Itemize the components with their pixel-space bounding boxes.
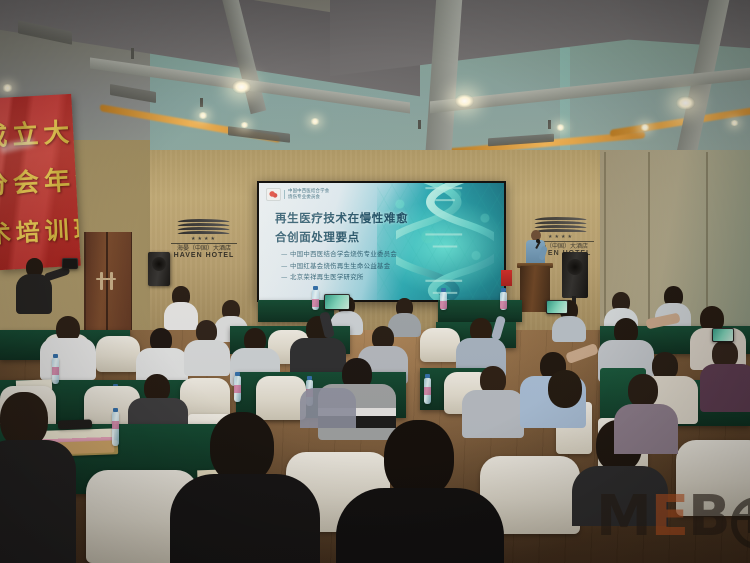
event-banner: 成立大会 分会年会 术培训班 xyxy=(0,94,81,270)
downlight-6 xyxy=(240,122,249,128)
wall-seam-3 xyxy=(604,152,606,337)
red-sign-placard xyxy=(501,270,512,286)
door-split xyxy=(106,232,108,340)
smartphone-recording[interactable] xyxy=(546,300,568,314)
smartphone-recording[interactable] xyxy=(324,294,350,310)
downlight-16 xyxy=(730,120,739,126)
chair[interactable] xyxy=(96,336,140,372)
ceiling-hook-4 xyxy=(548,120,551,129)
meeting-room-door[interactable] xyxy=(84,232,132,340)
haven-wave-icon-2 xyxy=(535,216,587,232)
water-bottle[interactable] xyxy=(424,378,431,404)
ceiling-spotlight-2 xyxy=(455,94,474,108)
speaker-driver-icon-2 xyxy=(567,259,583,275)
water-bottle[interactable] xyxy=(500,292,507,310)
speaker-driver-icon xyxy=(152,257,166,271)
downlight-7 xyxy=(310,118,320,125)
screen-sheen xyxy=(259,183,504,300)
attendee-torso xyxy=(300,388,356,428)
eyeglasses[interactable] xyxy=(58,419,92,429)
door-handle-left[interactable] xyxy=(100,272,103,290)
attendee-head xyxy=(628,374,658,408)
mebo-watermark: M E B xyxy=(596,489,750,545)
downlight-1 xyxy=(2,84,13,92)
slide-content: 中国中西医结合学会 烧伤专业委员会 再生医疗技术在慢性难愈 合创面处理要点 中国… xyxy=(259,183,504,300)
water-bottle[interactable] xyxy=(112,412,119,446)
ceiling-hook-1 xyxy=(131,48,134,59)
wall-seam-1 xyxy=(648,152,650,337)
hotel-sign-left: ★★★★ 海晏（中国）大酒店 HAVEN HOTEL xyxy=(165,218,243,260)
downlight-4 xyxy=(198,112,208,119)
hotel-name-cn: 海晏（中国）大酒店 xyxy=(165,245,243,252)
attendee-torso-foreground xyxy=(0,440,76,563)
attendee-torso xyxy=(462,390,524,438)
downlight-12 xyxy=(556,124,565,131)
pa-speaker-stage xyxy=(562,252,588,298)
conference-room-photo: 成立大会 分会年会 术培训班 ★★★★ 海晏（中国）大酒店 HAVEN HOTE… xyxy=(0,0,750,563)
ceiling-hook-2 xyxy=(200,98,203,107)
watermark-letter-b: B xyxy=(688,489,730,545)
attendee-torso xyxy=(40,338,96,380)
watermark-letter-m: M xyxy=(596,489,651,545)
presentation-screen[interactable]: 中国中西医结合学会 烧伤专业委员会 再生医疗技术在慢性难愈 合创面处理要点 中国… xyxy=(257,181,506,302)
watermark-letter-o-cross-icon xyxy=(731,497,750,537)
hotel-name-en: HAVEN HOTEL xyxy=(165,252,243,260)
attendee-torso-foreground xyxy=(336,488,504,563)
chair[interactable] xyxy=(256,376,306,420)
attendee-torso xyxy=(614,404,678,454)
downlight-14 xyxy=(640,124,650,131)
attendee-head-foreground xyxy=(384,420,454,498)
watermark-letter-e: E xyxy=(651,489,688,545)
attendee-torso xyxy=(164,302,198,330)
camera-device[interactable] xyxy=(62,258,78,269)
divider xyxy=(171,243,237,244)
water-bottle[interactable] xyxy=(312,290,319,310)
chair[interactable] xyxy=(420,328,460,362)
attendee-torso xyxy=(700,364,750,412)
microphone-icon xyxy=(536,239,540,243)
ceiling-hook-3 xyxy=(418,120,421,129)
attendee-head xyxy=(548,370,582,408)
door-push-bar xyxy=(96,278,116,280)
ceiling-spotlight-1 xyxy=(232,80,251,94)
banner-fold-shading xyxy=(0,94,81,270)
water-bottle[interactable] xyxy=(234,376,241,402)
attendee-torso-foreground xyxy=(170,474,320,563)
attendee-torso xyxy=(184,340,230,376)
water-bottle[interactable] xyxy=(52,358,59,384)
ceiling-spotlight-3 xyxy=(676,96,695,110)
haven-wave-icon xyxy=(178,218,230,234)
attendee-torso xyxy=(552,316,586,342)
hotel-star-rating: ★★★★ xyxy=(165,236,243,242)
water-bottle[interactable] xyxy=(440,292,447,310)
door-handle-right[interactable] xyxy=(110,272,113,290)
smartphone-recording[interactable] xyxy=(712,328,734,342)
